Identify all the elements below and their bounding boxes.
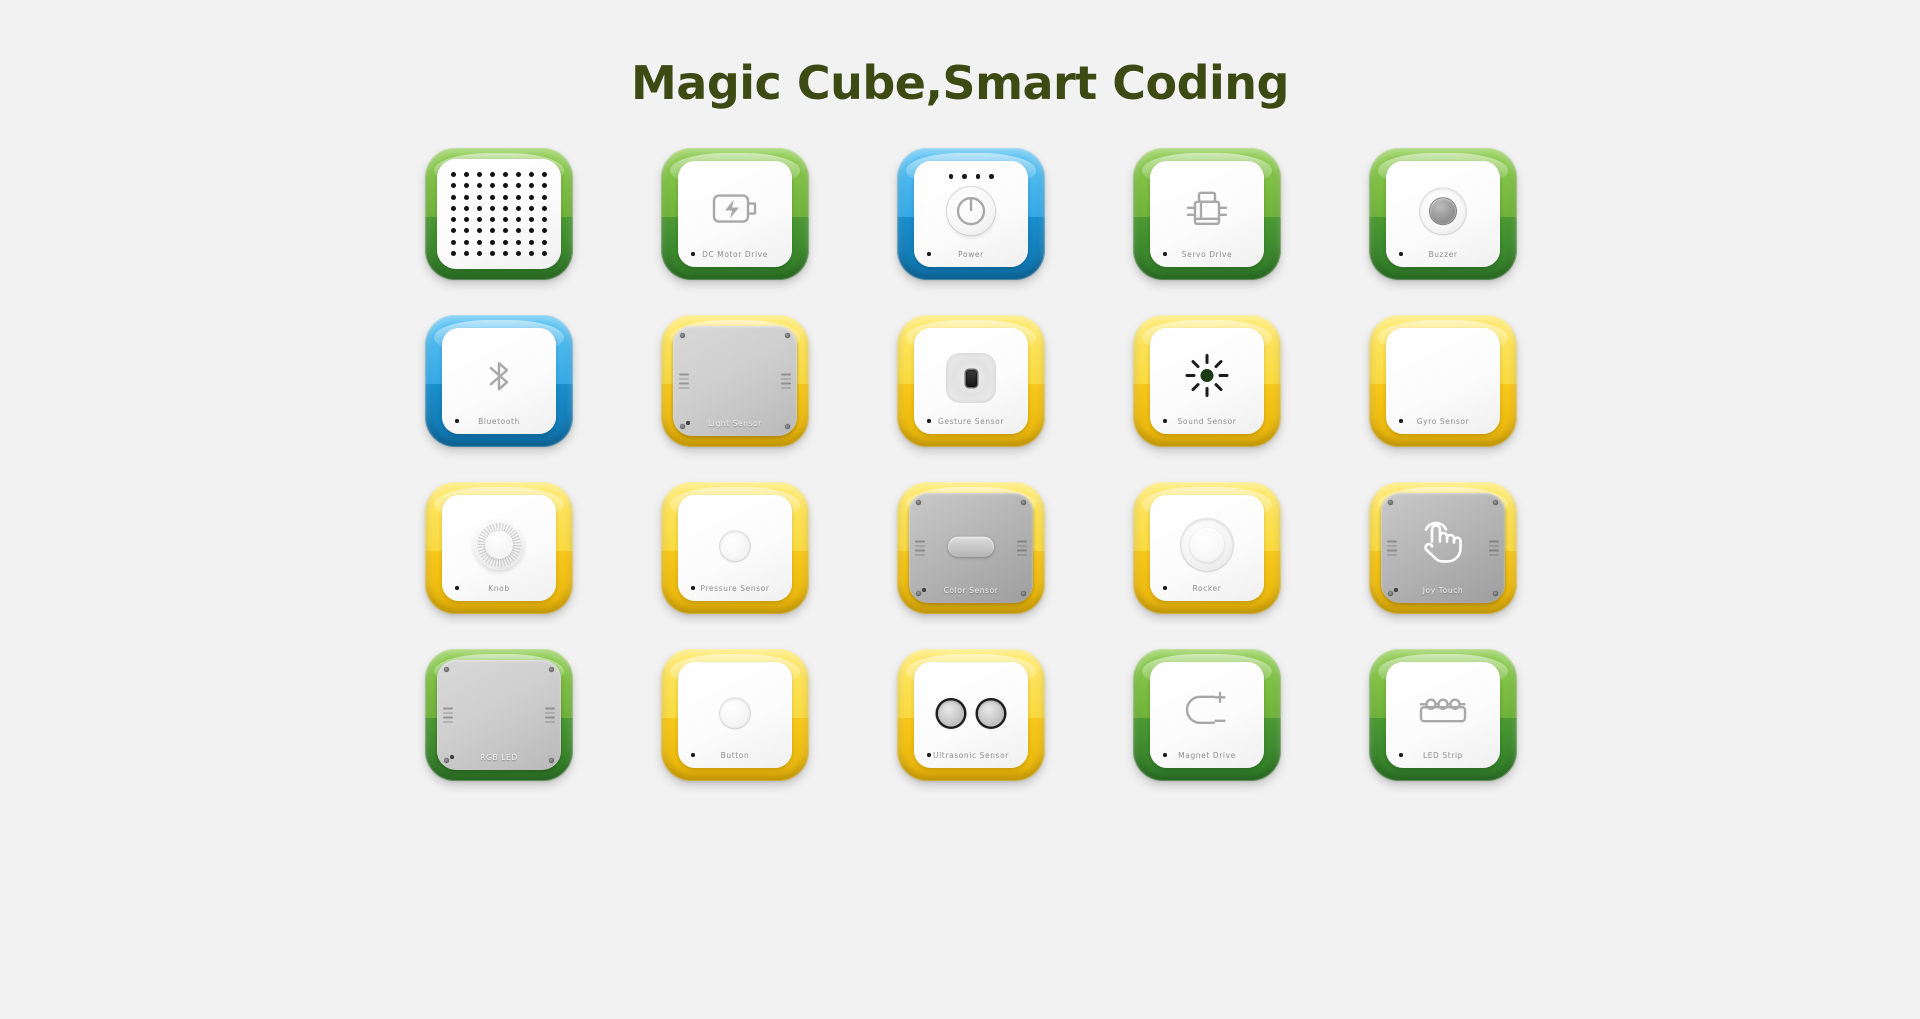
matrix-dot — [477, 206, 482, 211]
matrix-dot — [529, 195, 534, 200]
module-face: Knob — [442, 495, 556, 601]
icon-area — [678, 698, 792, 728]
module-label: Button — [678, 751, 792, 760]
matrix-dot — [464, 206, 469, 211]
module-label: Joy Touch — [1381, 586, 1505, 595]
module-face: Magnet Drive — [1150, 662, 1264, 768]
module-label: Servo Drive — [1150, 250, 1264, 259]
dot-matrix-display — [447, 169, 551, 259]
module-label: Gesture Sensor — [914, 417, 1028, 426]
module-face: Button — [678, 662, 792, 768]
module-face: Gyro Sensor — [1386, 328, 1500, 434]
servo-motor-icon — [1186, 189, 1228, 234]
module-face: Ultrasonic Sensor — [914, 662, 1028, 768]
knob-cap — [485, 531, 513, 559]
matrix-dot — [477, 251, 482, 256]
status-led — [962, 174, 967, 179]
buzzer-icon — [1420, 188, 1466, 234]
matrix-dot — [451, 172, 456, 177]
rocker-outer — [1181, 519, 1233, 571]
matrix-dot — [529, 228, 534, 233]
module-sound-sensor[interactable]: Sound Sensor — [1133, 315, 1281, 447]
icon-area — [1150, 189, 1264, 234]
matrix-dot — [451, 206, 456, 211]
module-face: Pressure Sensor — [678, 495, 792, 601]
module-face: Buzzer — [1386, 161, 1500, 267]
pressure-circle-icon — [720, 531, 750, 561]
ultrasonic-receiver — [978, 700, 1004, 726]
matrix-dot — [529, 240, 534, 245]
module-pressure-sensor[interactable]: Pressure Sensor — [661, 482, 809, 614]
status-led — [976, 174, 981, 179]
matrix-dot — [490, 206, 495, 211]
matrix-dot — [542, 228, 547, 233]
matrix-dot — [477, 183, 482, 188]
gesture-icon — [946, 353, 996, 403]
module-rgb-led[interactable]: RGB LED — [425, 649, 573, 781]
module-gyro-sensor[interactable]: Gyro Sensor — [1369, 315, 1517, 447]
button-circle-icon — [720, 698, 750, 728]
matrix-dot — [477, 228, 482, 233]
matrix-dot — [464, 228, 469, 233]
module-face: DC Motor Drive — [678, 161, 792, 267]
module-buzzer[interactable]: Buzzer — [1369, 148, 1517, 280]
vent-grille — [679, 374, 689, 389]
module-label: Rocker — [1150, 584, 1264, 593]
screw-icon — [680, 333, 685, 338]
module-face: Gesture Sensor — [914, 328, 1028, 434]
matrix-dot — [451, 240, 456, 245]
matrix-dot — [477, 172, 482, 177]
matrix-dot — [503, 217, 508, 222]
module-face: RGB LED — [437, 660, 561, 770]
module-servo-drive[interactable]: Servo Drive — [1133, 148, 1281, 280]
matrix-dot — [464, 195, 469, 200]
gesture-pad — [946, 353, 996, 403]
module-face: Joy Touch — [1381, 493, 1505, 603]
matrix-dot — [542, 206, 547, 211]
module-power[interactable]: Power — [897, 148, 1045, 280]
dc-motor-icon — [710, 187, 760, 236]
rocker-icon — [1181, 519, 1233, 571]
matrix-dot — [464, 240, 469, 245]
matrix-dot — [503, 240, 508, 245]
module-label: Knob — [442, 584, 556, 593]
module-label: Color Sensor — [909, 586, 1033, 595]
matrix-dot — [503, 183, 508, 188]
matrix-dot — [477, 240, 482, 245]
matrix-dot — [451, 228, 456, 233]
vent-grille — [1017, 541, 1027, 556]
icon-area — [914, 353, 1028, 403]
vent-grille — [781, 374, 791, 389]
matrix-dot — [477, 217, 482, 222]
module-label: LED Strip — [1386, 751, 1500, 760]
module-face: Power — [914, 161, 1028, 267]
screw-icon — [1021, 500, 1026, 505]
module-face: Color Sensor — [909, 493, 1033, 603]
screw-icon — [549, 667, 554, 672]
icon-area — [914, 700, 1028, 726]
icon-area — [1150, 690, 1264, 735]
matrix-dot — [516, 206, 521, 211]
ultrasonic-icon — [938, 700, 1004, 726]
module-rocker[interactable]: Rocker — [1133, 482, 1281, 614]
matrix-dot — [529, 206, 534, 211]
pressure-pad — [720, 531, 750, 561]
matrix-dot — [516, 172, 521, 177]
module-light-sensor[interactable]: Light Sensor — [661, 315, 809, 447]
matrix-dot — [542, 240, 547, 245]
module-bluetooth[interactable]: Bluetooth — [425, 315, 573, 447]
module-label: DC Motor Drive — [678, 250, 792, 259]
power-status-leds — [914, 174, 1028, 179]
matrix-dot — [503, 195, 508, 200]
matrix-dot — [542, 217, 547, 222]
icon-area — [1150, 519, 1264, 571]
matrix-dot — [542, 195, 547, 200]
matrix-dot — [503, 251, 508, 256]
screw-icon — [1388, 500, 1393, 505]
knob-icon — [474, 520, 524, 570]
module-grid: DC Motor DrivePowerServo DriveBuzzerBlue… — [381, 148, 1561, 781]
module-dc-motor-drive[interactable]: DC Motor Drive — [661, 148, 809, 280]
module-joy-touch[interactable]: Joy Touch — [1369, 482, 1517, 614]
icon-area — [1386, 188, 1500, 234]
module-face: Rocker — [1150, 495, 1264, 601]
matrix-dot — [503, 228, 508, 233]
module-led-strip[interactable]: LED Strip — [1369, 649, 1517, 781]
buzzer-core — [1430, 198, 1456, 224]
icon-area — [1381, 519, 1505, 570]
color-lens-icon — [948, 537, 994, 557]
module-label: Sound Sensor — [1150, 417, 1264, 426]
icon-area — [678, 531, 792, 561]
sound-burst-icon — [1185, 354, 1229, 403]
icon-area — [678, 187, 792, 236]
module-dot-matrix[interactable] — [425, 148, 573, 280]
module-ultrasonic-sensor[interactable]: Ultrasonic Sensor — [897, 649, 1045, 781]
matrix-dot — [451, 251, 456, 256]
matrix-dot — [490, 251, 495, 256]
matrix-dot — [490, 240, 495, 245]
module-label: Magnet Drive — [1150, 751, 1264, 760]
module-label: Pressure Sensor — [678, 584, 792, 593]
matrix-dot — [516, 240, 521, 245]
ultrasonic-transmitter — [938, 700, 964, 726]
icon-area — [442, 520, 556, 570]
vent-grille — [545, 708, 555, 723]
matrix-dot — [451, 183, 456, 188]
module-magnet-drive[interactable]: Magnet Drive — [1133, 649, 1281, 781]
icon-area — [1150, 354, 1264, 403]
icon-area — [442, 359, 556, 398]
bluetooth-icon — [481, 359, 517, 398]
module-label: Light Sensor — [673, 419, 797, 428]
module-button[interactable]: Button — [661, 649, 809, 781]
matrix-dot — [503, 172, 508, 177]
matrix-dot — [451, 217, 456, 222]
module-knob[interactable]: Knob — [425, 482, 573, 614]
matrix-dot — [529, 172, 534, 177]
matrix-dot — [516, 183, 521, 188]
touch-hand-icon — [1419, 519, 1467, 570]
led-strip-icon — [1416, 693, 1470, 732]
icon-area — [1386, 693, 1500, 732]
matrix-dot — [490, 217, 495, 222]
matrix-dot — [529, 217, 534, 222]
page-title: Magic Cube,Smart Coding — [0, 56, 1920, 110]
status-led — [989, 174, 994, 179]
matrix-dot — [516, 251, 521, 256]
module-label: Power — [914, 250, 1028, 259]
screw-icon — [785, 333, 790, 338]
module-face: Sound Sensor — [1150, 328, 1264, 434]
matrix-dot — [490, 195, 495, 200]
screw-icon — [916, 500, 921, 505]
matrix-dot — [490, 172, 495, 177]
power-button-icon[interactable] — [947, 187, 995, 235]
matrix-dot — [464, 183, 469, 188]
matrix-dot — [529, 251, 534, 256]
vent-grille — [443, 708, 453, 723]
matrix-dot — [516, 195, 521, 200]
module-face: Bluetooth — [442, 328, 556, 434]
icon-area — [914, 187, 1028, 235]
ultrasonic-transducers — [938, 700, 1004, 726]
matrix-dot — [464, 172, 469, 177]
magnet-icon — [1184, 690, 1230, 735]
matrix-dot — [490, 183, 495, 188]
module-gesture-sensor[interactable]: Gesture Sensor — [897, 315, 1045, 447]
matrix-dot — [477, 195, 482, 200]
matrix-dot — [464, 251, 469, 256]
icon-area — [909, 537, 1033, 557]
module-label: Ultrasonic Sensor — [914, 751, 1028, 760]
matrix-dot — [542, 251, 547, 256]
matrix-dot — [503, 206, 508, 211]
matrix-dot — [490, 228, 495, 233]
matrix-dot — [529, 183, 534, 188]
gesture-chip — [966, 370, 977, 387]
module-label: Gyro Sensor — [1386, 417, 1500, 426]
module-face: LED Strip — [1386, 662, 1500, 768]
matrix-dot — [542, 172, 547, 177]
vent-grille — [915, 541, 925, 556]
buzzer-ring — [1420, 188, 1466, 234]
matrix-dot — [464, 217, 469, 222]
rocker-cap — [1190, 528, 1224, 562]
product-showcase-page: Magic Cube,Smart Coding DC Motor DrivePo… — [0, 0, 1920, 1019]
module-color-sensor[interactable]: Color Sensor — [897, 482, 1045, 614]
module-face — [437, 159, 561, 269]
module-label: Buzzer — [1386, 250, 1500, 259]
matrix-dot — [516, 228, 521, 233]
matrix-dot — [451, 195, 456, 200]
screw-icon — [444, 667, 449, 672]
matrix-dot — [516, 217, 521, 222]
vent-grille — [1489, 541, 1499, 556]
matrix-dot — [542, 183, 547, 188]
module-face: Servo Drive — [1150, 161, 1264, 267]
module-face: Light Sensor — [673, 326, 797, 436]
color-lens — [948, 537, 994, 557]
module-label: Bluetooth — [442, 417, 556, 426]
push-button — [720, 698, 750, 728]
knob-dial[interactable] — [474, 520, 524, 570]
vent-grille — [1387, 541, 1397, 556]
module-label: RGB LED — [437, 753, 561, 762]
status-led — [949, 174, 954, 179]
screw-icon — [1493, 500, 1498, 505]
